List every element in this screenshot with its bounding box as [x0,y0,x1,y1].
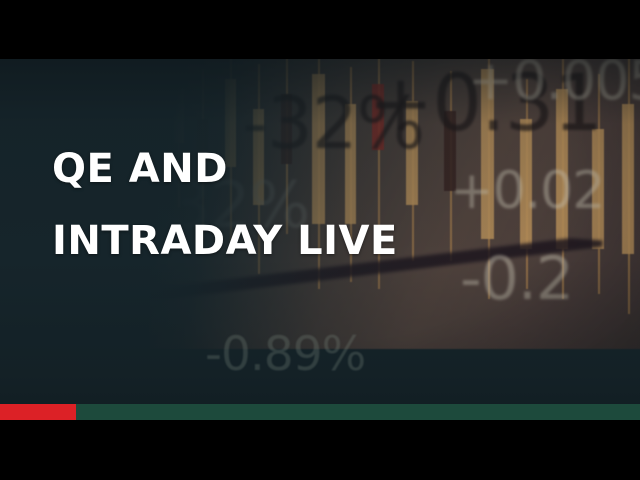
title-line-1: QE AND [52,133,398,205]
letterbox-bottom-bar [0,420,640,480]
title-block: QE AND INTRADAY LIVE [52,133,398,277]
channel-name-container: Live Trading with Doc [76,404,640,420]
lower-third-banner: Live Trading with Doc [0,404,640,420]
letterbox-top-bar [0,0,640,59]
thumbnail-frame: -32% 32% +0.31 +0.005 +0.02 -0.2 -0.89% … [0,59,640,420]
swiss-flag-icon [0,404,76,420]
value-minus-089pct: -0.89% [205,327,365,382]
video-thumbnail: -32% 32% +0.31 +0.005 +0.02 -0.2 -0.89% … [0,0,640,480]
title-line-2: INTRADAY LIVE [52,205,398,277]
